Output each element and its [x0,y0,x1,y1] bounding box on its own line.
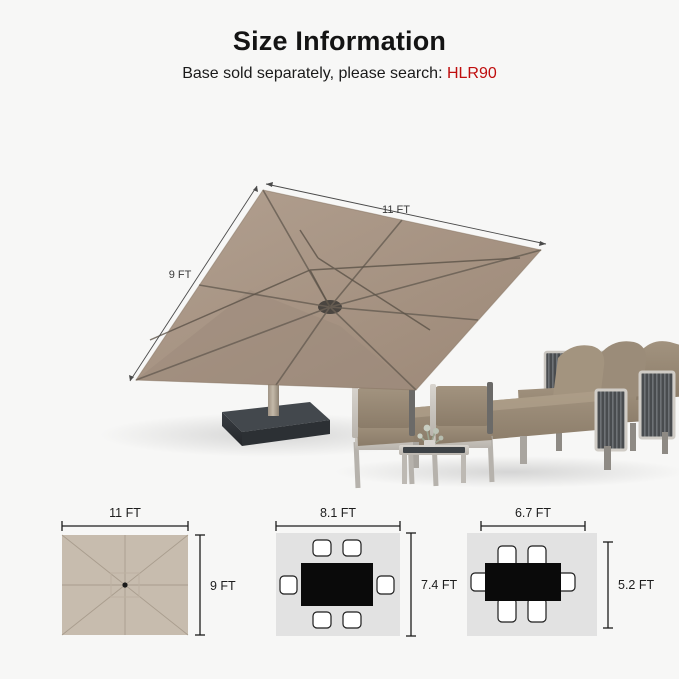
compact-table [485,563,561,601]
diagram-compact-layout: 6.7 FT [455,498,665,653]
chair-right [377,576,394,594]
chair-bottom-right [343,612,361,628]
compact-height-label: 5.2 FT [618,578,654,592]
chair-bottom-left [313,612,331,628]
canopy-width-dimension: 11 FT [62,506,188,531]
header: Size Information Base sold separately, p… [0,24,679,84]
compact-height-dimension: 5.2 FT [603,542,654,628]
six-width-dimension: 8.1 FT [276,506,400,531]
dimension-label-width: 11 FT [382,204,410,216]
page-title: Size Information [0,24,679,58]
size-information-page: Size Information Base sold separately, p… [0,0,679,679]
canopy-height-dimension: 9 FT [195,535,236,635]
diagram-six-seat-layout: 8.1 FT [258,498,458,653]
six-width-label: 8.1 FT [320,506,356,520]
six-height-label: 7.4 FT [421,578,457,592]
chair-top-left [313,540,331,556]
chair-bottom-left [498,598,516,622]
six-table [301,563,373,606]
sku-code: HLR90 [447,65,497,82]
canopy-width-label: 11 FT [109,506,141,520]
compact-width-label: 6.7 FT [515,506,551,520]
chair-bottom-right [528,598,546,622]
subtitle-text: Base sold separately, please search: [182,65,447,82]
dimension-label-depth: 9 FT [169,269,192,281]
canopy-height-label: 9 FT [210,579,236,593]
six-height-dimension: 7.4 FT [406,533,457,636]
chair-top-right [343,540,361,556]
chair-left [280,576,297,594]
hero-scene: 11 FT 9 FT [0,90,679,490]
diagram-canopy-top-view: 11 FT 9 FT [40,498,240,653]
canopy-center-pole [122,582,127,587]
furniture-floor-shadow [335,456,679,488]
subtitle: Base sold separately, please search: HLR… [0,64,679,84]
layout-diagrams: 11 FT 9 FT [0,498,679,648]
compact-width-dimension: 6.7 FT [481,506,585,531]
